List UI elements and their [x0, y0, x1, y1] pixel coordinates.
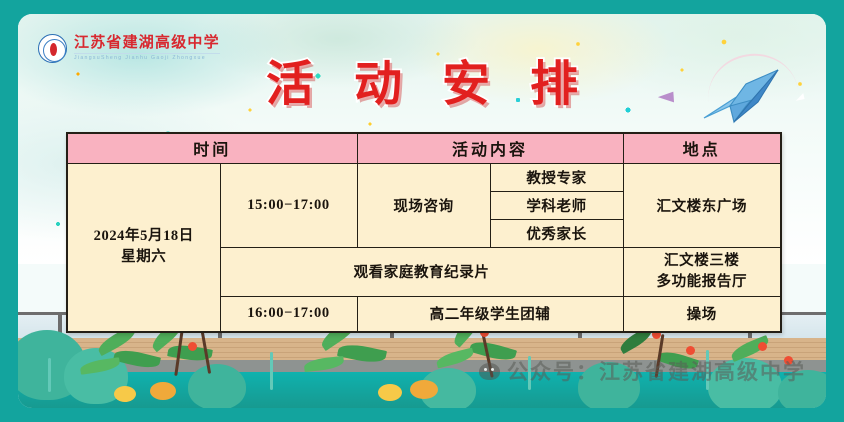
school-logo-text: 江苏省建湖高级中学 JiangsuSheng Jianhu Gaoji Zhon… [74, 36, 220, 61]
page-title: 活 动 安 排 [18, 61, 826, 109]
watermark: 公众号：江苏省建湖高级中学 [479, 356, 806, 386]
cell-activity-3: 高二年级学生团辅 [357, 296, 623, 332]
cell-time-1: 15:00−17:00 [220, 163, 357, 247]
schedule-table-wrapper: 时间 活动内容 地点 2024年5月18日 星期六 15:00−17:00 现场… [66, 132, 780, 333]
date-line-1: 2024年5月18日 [70, 226, 218, 247]
cell-activity-1: 现场咨询 [357, 163, 490, 247]
poster-card: 江苏省建湖高级中学 JiangsuSheng Jianhu Gaoji Zhon… [18, 14, 826, 408]
cell-subitem-1: 教授专家 [490, 163, 623, 191]
wechat-icon [479, 363, 500, 380]
place-line-2: 多功能报告厅 [626, 272, 779, 293]
schedule-table: 时间 活动内容 地点 2024年5月18日 星期六 15:00−17:00 现场… [66, 132, 782, 333]
school-logo: 江苏省建湖高级中学 JiangsuSheng Jianhu Gaoji Zhon… [38, 34, 220, 63]
place-line-1: 汇文楼三楼 [626, 251, 779, 272]
cell-subitem-3: 优秀家长 [490, 219, 623, 247]
table-row: 2024年5月18日 星期六 15:00−17:00 现场咨询 教授专家 汇文楼… [67, 163, 781, 191]
poster-root: 江苏省建湖高级中学 JiangsuSheng Jianhu Gaoji Zhon… [0, 0, 844, 422]
cell-activity-2: 观看家庭教育纪录片 [220, 247, 623, 296]
table-header-row: 时间 活动内容 地点 [67, 133, 781, 163]
header-place: 地点 [623, 133, 781, 163]
cell-place-2: 汇文楼三楼 多功能报告厅 [623, 247, 781, 296]
school-name-cn: 江苏省建湖高级中学 [74, 36, 220, 51]
header-activity: 活动内容 [357, 133, 623, 163]
school-name-pinyin: JiangsuSheng Jianhu Gaoji Zhongxue [74, 53, 220, 61]
cell-place-1: 汇文楼东广场 [623, 163, 781, 247]
watermark-text: 公众号：江苏省建湖高级中学 [507, 356, 806, 386]
date-line-2: 星期六 [70, 247, 218, 268]
header-time: 时间 [67, 133, 357, 163]
cell-place-3: 操场 [623, 296, 781, 332]
cell-time-3: 16:00−17:00 [220, 296, 357, 332]
cell-subitem-2: 学科老师 [490, 191, 623, 219]
school-crest-icon [38, 34, 67, 63]
cell-date: 2024年5月18日 星期六 [67, 163, 220, 332]
